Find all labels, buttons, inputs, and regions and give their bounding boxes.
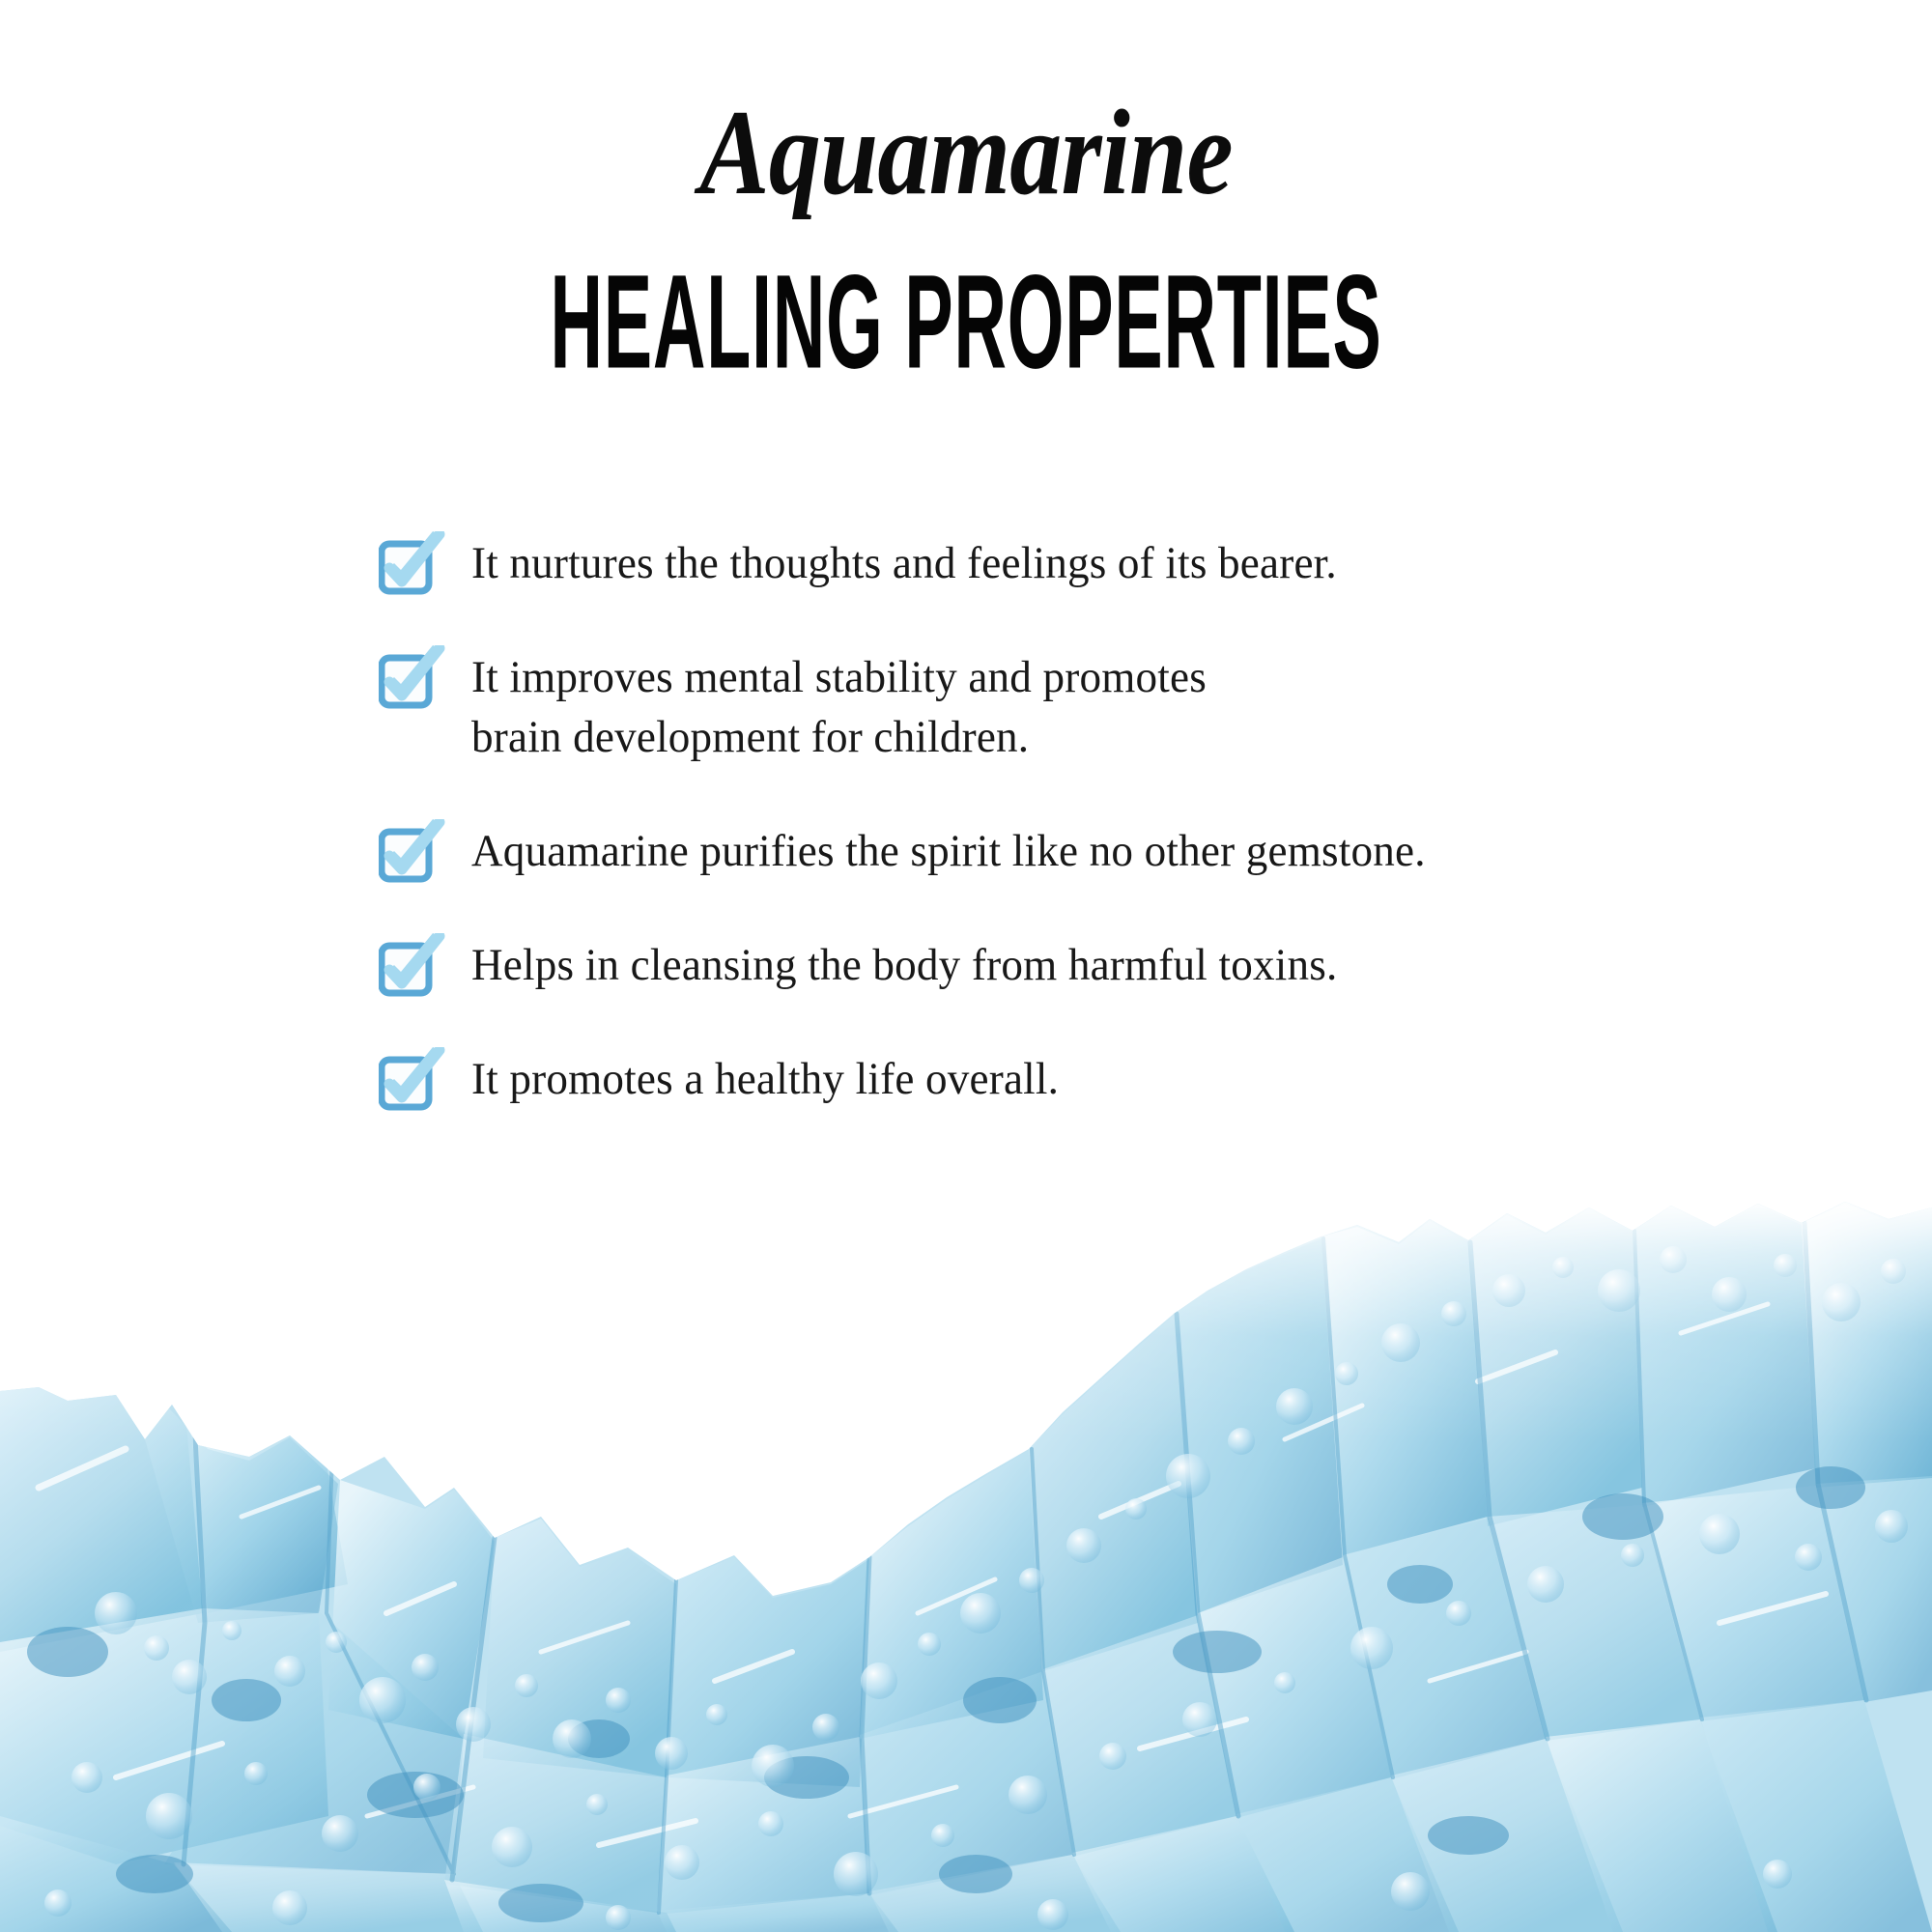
checkbox-checked-icon[interactable]	[379, 829, 429, 879]
checkbox-checked-icon[interactable]	[379, 943, 429, 993]
page-title: Aquamarine	[135, 93, 1797, 214]
poster-canvas: Aquamarine HEALING PROPERTIES It nurture…	[0, 0, 1932, 1932]
list-item-text: Helps in cleansing the body from harmful…	[471, 935, 1337, 995]
checkbox-checked-icon[interactable]	[379, 541, 429, 591]
checkbox-checked-icon[interactable]	[379, 655, 429, 705]
healing-properties-list: It nurtures the thoughts and feelings of…	[379, 533, 1808, 1109]
list-item-text: It promotes a healthy life overall.	[471, 1049, 1059, 1109]
list-item: Helps in cleansing the body from harmful…	[379, 935, 1808, 995]
list-item: It improves mental stability and promote…	[379, 647, 1808, 767]
list-item-text: Aquamarine purifies the spirit like no o…	[471, 821, 1426, 881]
list-item: It nurtures the thoughts and feelings of…	[379, 533, 1808, 593]
list-item-text: It nurtures the thoughts and feelings of…	[471, 533, 1337, 593]
list-item-text: It improves mental stability and promote…	[471, 647, 1207, 767]
list-item: Aquamarine purifies the spirit like no o…	[379, 821, 1808, 881]
ice-photo-decoration	[0, 1198, 1932, 1932]
header-block: Aquamarine HEALING PROPERTIES	[0, 93, 1932, 359]
page-subtitle: HEALING PROPERTIES	[290, 255, 1642, 388]
list-item: It promotes a healthy life overall.	[379, 1049, 1808, 1109]
checkbox-checked-icon[interactable]	[379, 1057, 429, 1107]
